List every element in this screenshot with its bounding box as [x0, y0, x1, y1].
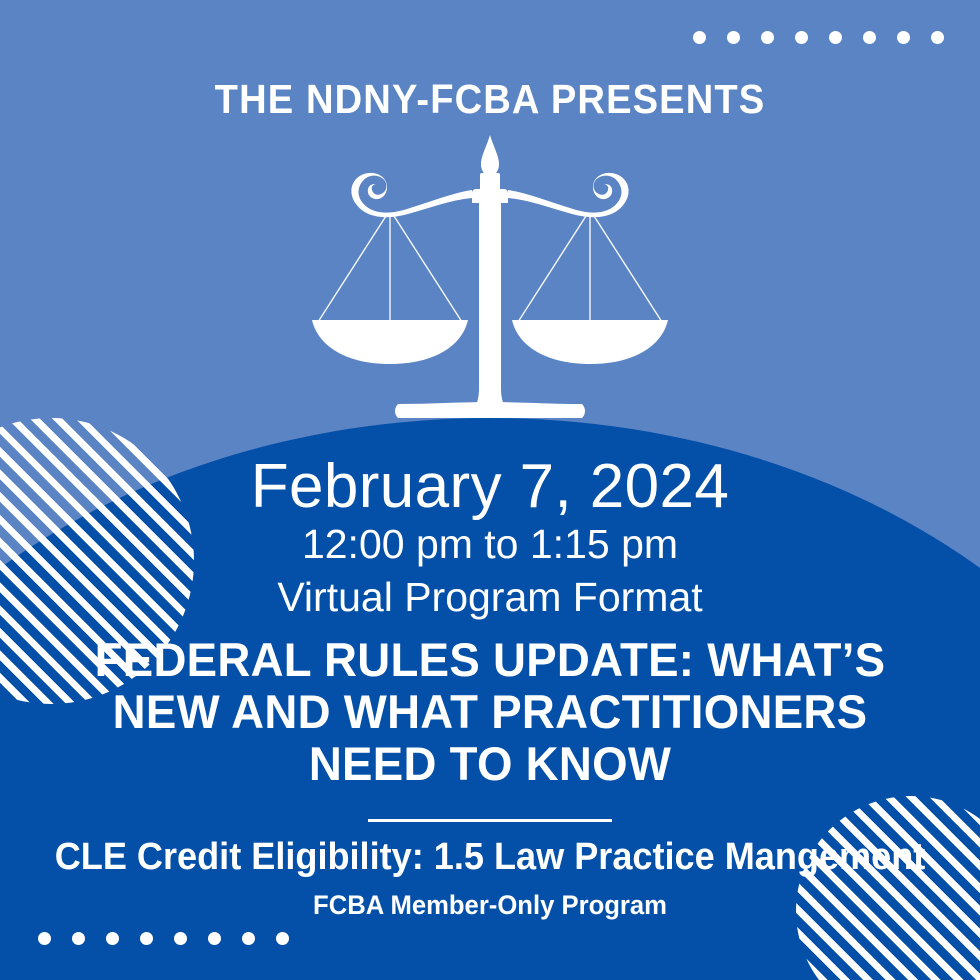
- event-format: Virtual Program Format: [0, 571, 980, 623]
- dot: [276, 932, 289, 945]
- dot: [761, 31, 774, 44]
- dot: [242, 932, 255, 945]
- presents-heading: THE NDNY-FCBA PRESENTS: [34, 76, 945, 123]
- cle-credit-text: CLE Credit Eligibility: 1.5 Law Practice…: [25, 836, 956, 879]
- membership-note: FCBA Member-Only Program: [25, 890, 956, 921]
- dot: [863, 31, 876, 44]
- dot: [727, 31, 740, 44]
- dot: [38, 932, 51, 945]
- dot: [72, 932, 85, 945]
- dot: [140, 932, 153, 945]
- dot: [897, 31, 910, 44]
- event-datetime-block: February 7, 2024 12:00 pm to 1:15 pm Vir…: [0, 455, 980, 623]
- dot-row-bottom-left: [38, 932, 289, 945]
- divider-rule: [368, 819, 612, 822]
- dot-row-top-right: [693, 31, 944, 44]
- dot: [795, 31, 808, 44]
- dot: [106, 932, 119, 945]
- event-time: 12:00 pm to 1:15 pm: [0, 518, 980, 570]
- dot: [208, 932, 221, 945]
- dot: [693, 31, 706, 44]
- event-date: February 7, 2024: [0, 455, 980, 518]
- dot: [829, 31, 842, 44]
- dot: [174, 932, 187, 945]
- event-title: FEDERAL RULES UPDATE: WHAT’S NEW AND WHA…: [69, 634, 911, 790]
- event-flyer: THE NDNY-FCBA PRESENTS: [0, 0, 980, 980]
- scales-of-justice-icon: [290, 132, 690, 432]
- dot: [931, 31, 944, 44]
